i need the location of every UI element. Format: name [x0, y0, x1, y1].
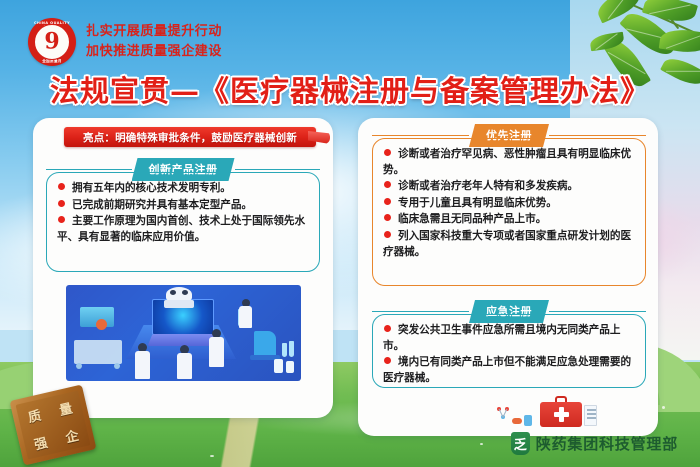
- list-item: 诊断或者治疗罕见病、恶性肿瘤且具有明显临床优势。: [383, 147, 636, 178]
- bullet-dot-icon: [384, 231, 391, 238]
- illus-test-tube: [289, 341, 294, 357]
- header-rule-left: [372, 135, 469, 137]
- bullet-list-emergency: 突发公共卫生事件应急所需且境内无同类产品上市。 境内已有同类产品上市但不能满足应…: [383, 323, 636, 387]
- header-rule-left: [46, 169, 132, 171]
- pill-icon: [512, 418, 522, 424]
- slogan-line-2: 加快推进质量强企建设: [86, 42, 222, 62]
- poster-canvas: CHINA QUALITY MONTH 全国质量月 9 扎实开展质量提升行动 加…: [0, 0, 700, 467]
- illus-hospital-bed: [74, 340, 122, 364]
- illus-bed-wheel: [114, 363, 120, 369]
- illus-bottle: [274, 359, 283, 373]
- highlight-ribbon-banner: 亮点：明确特殊审批条件，鼓励医疗器械创新: [64, 127, 316, 147]
- china-quality-month-logo: CHINA QUALITY MONTH 全国质量月 9: [28, 18, 76, 66]
- tube-icon: [524, 415, 532, 426]
- seal-char: 质: [26, 404, 43, 425]
- medical-technology-illustration: [66, 285, 301, 381]
- bullet-list-priority: 诊断或者治疗罕见病、恶性肿瘤且具有明显临床优势。 诊断或者治疗老年人特有和多发疾…: [383, 147, 636, 261]
- bullet-dot-icon: [58, 200, 65, 207]
- list-item: 列入国家科技重大专项或者国家重点研发计划的医疗器械。: [383, 229, 636, 260]
- bullet-dot-icon: [384, 357, 391, 364]
- bullet-dot-icon: [384, 198, 391, 205]
- footer-org-name: 陕药集团科技管理部: [536, 433, 678, 454]
- illus-person-body: [239, 306, 252, 328]
- list-item: 境内已有同类产品上市但不能满足应急处理需要的医疗器械。: [383, 355, 636, 386]
- seal-char: 强: [32, 432, 49, 453]
- bullet-box-emergency: 突发公共卫生事件应急所需且境内无同类产品上市。 境内已有同类产品上市但不能满足应…: [372, 314, 646, 388]
- bullet-dot-icon: [58, 216, 65, 223]
- seal-char: 企: [63, 424, 80, 445]
- bullet-dot-icon: [384, 181, 391, 188]
- slogan-line-1: 扎实开展质量提升行动: [86, 22, 222, 42]
- illus-person-body: [135, 351, 150, 379]
- bullet-dot-icon: [384, 149, 391, 156]
- seal-char: 量: [57, 397, 74, 418]
- illus-microscope: [254, 331, 276, 357]
- illus-robot-eye: [182, 290, 188, 295]
- header-rule-right: [235, 169, 321, 171]
- page-title: 法规宣贯—《医疗器械注册与备案管理办法》: [0, 68, 700, 110]
- bullet-dot-icon: [384, 325, 391, 332]
- list-item: 主要工作原理为国内首创、技术上处于国际领先水平、具有显著的临床应用价值。: [57, 214, 310, 245]
- header-rule-right: [549, 311, 646, 313]
- campaign-slogan: 扎实开展质量提升行动 加快推进质量强企建设: [86, 22, 222, 62]
- illus-robot-eye: [170, 290, 176, 295]
- bullet-dot-icon: [58, 183, 65, 190]
- bullet-box-innovation: 拥有五年内的核心技术发明专利。 已完成前期研究并具有基本定型产品。 主要工作原理…: [46, 172, 320, 272]
- list-item: 拥有五年内的核心技术发明专利。: [57, 181, 310, 197]
- list-item: 突发公共卫生事件应急所需且境内无同类产品上市。: [383, 323, 636, 354]
- grass-speck: [210, 455, 214, 457]
- bullet-list-innovation: 拥有五年内的核心技术发明专利。 已完成前期研究并具有基本定型产品。 主要工作原理…: [57, 181, 310, 246]
- grass-speck: [480, 443, 483, 445]
- bullet-dot-icon: [384, 214, 391, 221]
- illus-box-badge: [96, 319, 107, 330]
- illus-test-tube: [282, 343, 287, 357]
- first-aid-kit-icon: [540, 396, 582, 427]
- cross-horizontal: [554, 412, 569, 417]
- list-item: 专用于儿童且具有明显临床优势。: [383, 196, 636, 212]
- footer-credit: 陕药集团科技管理部: [511, 432, 678, 455]
- grass-speck: [662, 406, 665, 409]
- shaanxi-pharma-group-logo: [511, 432, 530, 455]
- illus-person-body: [209, 337, 224, 367]
- clipboard-icon: [584, 405, 597, 426]
- list-item: 临床急需且无同品种产品上市。: [383, 212, 636, 228]
- illus-bottle: [286, 361, 294, 373]
- illus-bed-wheel: [76, 363, 82, 369]
- highlight-ribbon-text: 亮点：明确特殊审批条件，鼓励医疗器械创新: [83, 130, 297, 145]
- molecule-icon: [496, 405, 510, 419]
- illus-person-body: [177, 353, 192, 379]
- illus-robot-body: [164, 300, 194, 308]
- logo-nine-glyph: 9: [44, 28, 59, 54]
- header-rule-left: [372, 311, 469, 313]
- list-item: 诊断或者治疗老年人特有和多发疾病。: [383, 179, 636, 195]
- bullet-box-priority: 诊断或者治疗罕见病、恶性肿瘤且具有明显临床优势。 诊断或者治疗老年人特有和多发疾…: [372, 138, 646, 286]
- list-item: 已完成前期研究并具有基本定型产品。: [57, 198, 310, 214]
- header-rule-right: [549, 135, 646, 137]
